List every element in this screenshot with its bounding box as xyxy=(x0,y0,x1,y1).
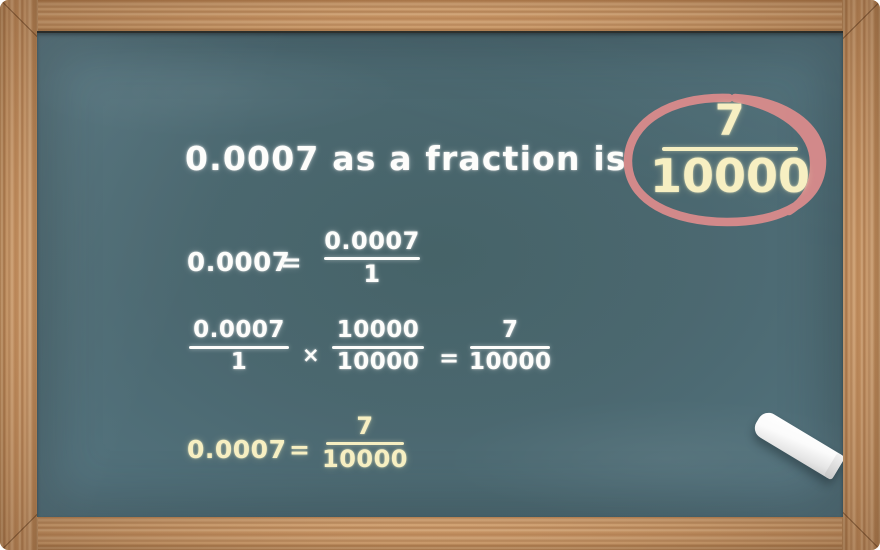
step-3-left-value: 0.0007 xyxy=(187,435,286,464)
step-2-fraction-b: 10000 10000 xyxy=(332,319,424,375)
step-2-fraction-result: 7 10000 xyxy=(469,319,552,375)
step-3-equals-sign: = xyxy=(289,435,310,464)
chalkboard-scene: 0.0007 as a fraction is 7 10000 0.0007 =… xyxy=(0,0,880,550)
chalk-stick-icon xyxy=(751,409,843,481)
step-2-result-denominator: 10000 xyxy=(469,351,552,375)
step-2-result-numerator: 7 xyxy=(502,319,519,343)
step-2-multiply-sign: × xyxy=(302,343,320,367)
step-2-a-denominator: 1 xyxy=(231,351,248,375)
frame-rail-right xyxy=(842,0,880,550)
answer-numerator: 7 xyxy=(715,99,745,144)
step-1-numerator: 0.0007 xyxy=(324,229,420,254)
answer-fraction: 7 10000 xyxy=(655,99,805,201)
step-1-equals-sign: = xyxy=(280,248,302,278)
frame-rail-top xyxy=(0,0,880,34)
step-3-fraction: 7 10000 xyxy=(322,414,408,472)
answer-denominator: 10000 xyxy=(650,153,810,201)
step-1-left-value: 0.0007 xyxy=(187,248,290,278)
step-3-numerator: 7 xyxy=(356,414,373,439)
step-3-denominator: 10000 xyxy=(322,447,408,472)
step-2-equals-sign: = xyxy=(439,344,460,372)
step-2-fraction-a: 0.0007 1 xyxy=(189,319,289,375)
step-2-b-numerator: 10000 xyxy=(337,319,420,343)
step-1-fraction: 0.0007 1 xyxy=(324,229,420,287)
step-2-b-denominator: 10000 xyxy=(337,351,420,375)
frame-rail-bottom xyxy=(0,516,880,550)
frame-rail-left xyxy=(0,0,38,550)
step-2-a-numerator: 0.0007 xyxy=(193,319,285,343)
chalkboard-surface: 0.0007 as a fraction is 7 10000 0.0007 =… xyxy=(37,33,843,517)
step-1-denominator: 1 xyxy=(363,262,380,287)
page-title: 0.0007 as a fraction is xyxy=(185,139,627,178)
